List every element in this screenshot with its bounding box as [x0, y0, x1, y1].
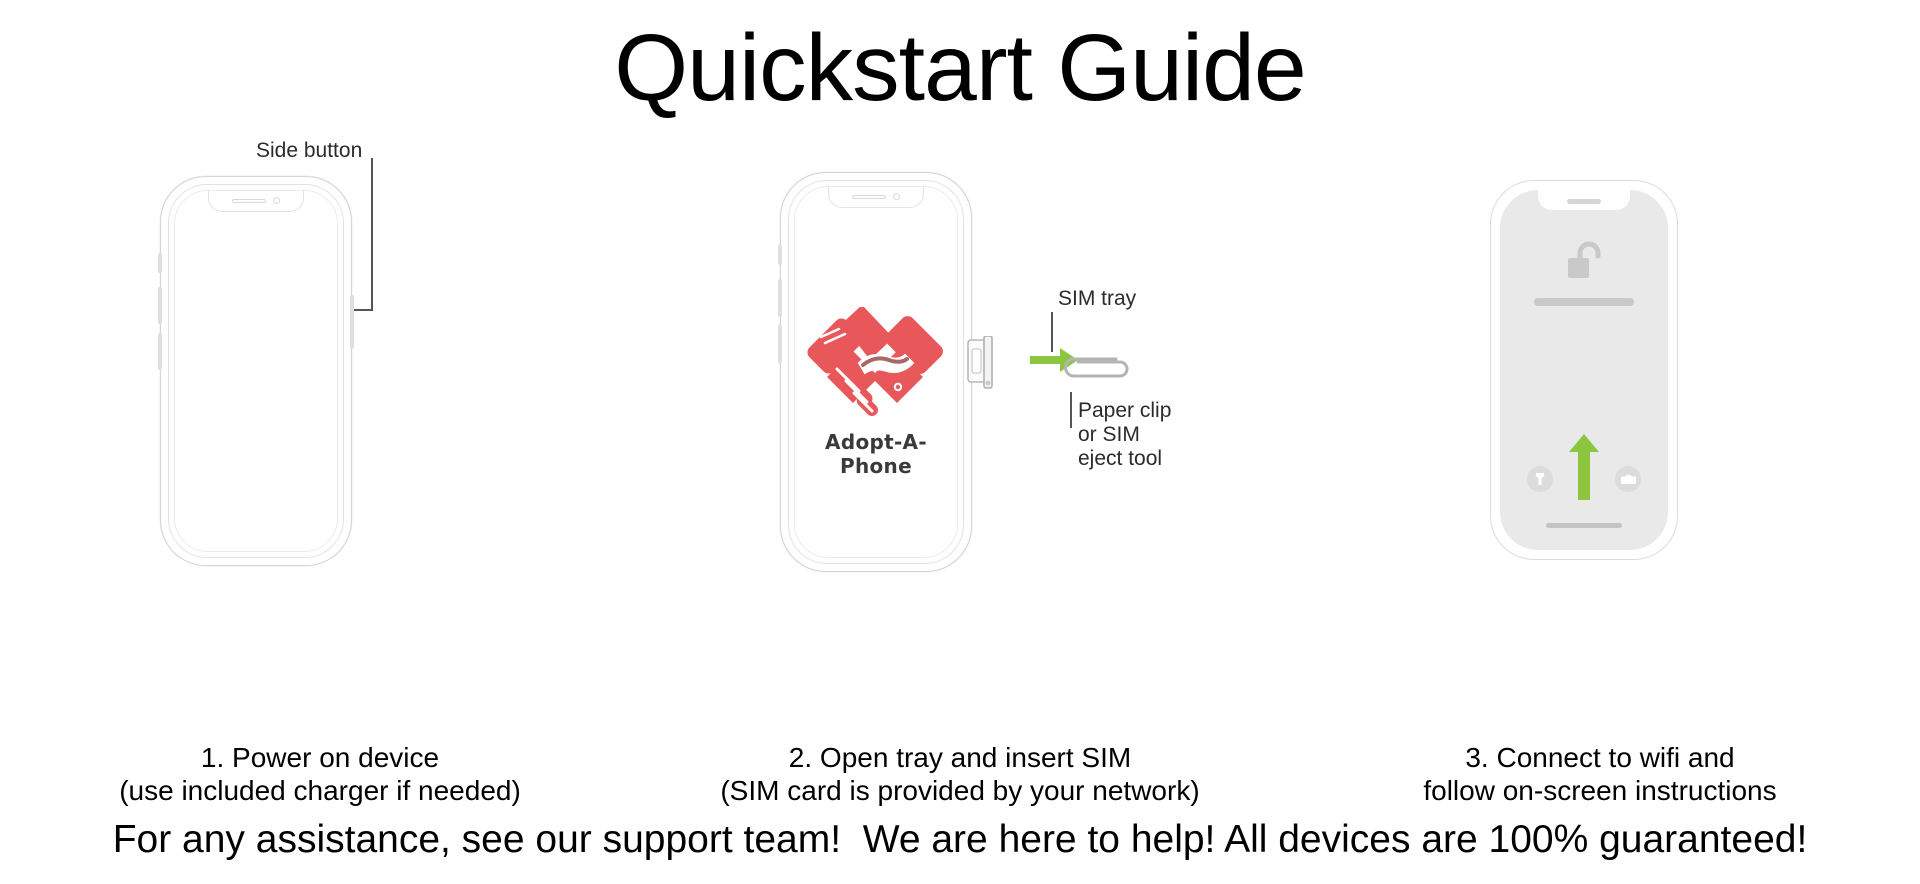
phone-device-3: [1490, 180, 1678, 560]
paperclip-callout-line-2: or SIM: [1078, 422, 1140, 448]
step-1-illustration: Side button: [0, 140, 640, 740]
sim-tray-leader: [1051, 312, 1053, 352]
brand-name-label: Adopt-A-Phone: [794, 430, 958, 478]
phone-3-notch: [1538, 190, 1630, 210]
phone-2-notch: [828, 186, 924, 208]
side-button-leader-horizontal: [352, 309, 373, 311]
volume-up-button[interactable]: [778, 279, 782, 317]
speaker-slot-icon: [232, 199, 266, 203]
side-button-leader-vertical: [371, 158, 373, 310]
volume-down-button[interactable]: [778, 325, 782, 363]
speaker-slot-icon: [852, 195, 886, 199]
phone-1-notch: [208, 190, 304, 212]
handshake-icon: [801, 307, 951, 419]
page-title: Quickstart Guide: [0, 14, 1920, 123]
phone-2-screen: Adopt-A-Phone: [794, 186, 958, 558]
step-3-illustration: [1280, 140, 1920, 740]
volume-down-button[interactable]: [158, 333, 162, 370]
silent-switch-button[interactable]: [158, 253, 162, 273]
phone-3-screen: [1500, 190, 1668, 550]
silent-switch-button[interactable]: [778, 245, 782, 265]
step-3-caption-line-1: 3. Connect to wifi and: [1280, 742, 1920, 775]
camera-icon[interactable]: [1615, 466, 1641, 492]
sim-tray-callout-label: SIM tray: [1058, 286, 1136, 312]
step-2-illustration: Adopt-A-Phone: [640, 140, 1280, 740]
paperclip-callout-line-1: Paper clip: [1078, 398, 1171, 424]
step-1-caption-line-1: 1. Power on device: [0, 742, 640, 775]
phone-device-1: [160, 176, 352, 566]
step-1-caption: 1. Power on device (use included charger…: [0, 742, 640, 808]
paperclip-eject-tool-icon: [1064, 356, 1132, 382]
flashlight-icon[interactable]: [1527, 466, 1553, 492]
speaker-slot-icon: [1567, 199, 1601, 204]
phone-1-screen: [174, 190, 338, 552]
brand-logo-block: Adopt-A-Phone: [794, 307, 958, 478]
power-side-button[interactable]: [350, 295, 354, 349]
phone-device-2: Adopt-A-Phone: [780, 172, 972, 572]
passcode-bar: [1534, 298, 1634, 306]
paperclip-callout-line-3: eject tool: [1078, 446, 1162, 472]
front-camera-icon: [273, 197, 280, 204]
paperclip-leader: [1070, 392, 1072, 428]
step-2-caption-line-1: 2. Open tray and insert SIM: [640, 742, 1280, 775]
home-indicator: [1546, 523, 1622, 528]
quickstart-guide-page: Quickstart Guide Side button: [0, 0, 1920, 884]
step-2-caption-line-2: (SIM card is provided by your network): [640, 775, 1280, 808]
volume-up-button[interactable]: [158, 287, 162, 324]
step-3-caption-line-2: follow on-screen instructions: [1280, 775, 1920, 808]
green-up-arrow-icon: [1568, 434, 1600, 502]
front-camera-icon: [893, 193, 900, 200]
step-1-caption-line-2: (use included charger if needed): [0, 775, 640, 808]
step-3-caption: 3. Connect to wifi and follow on-screen …: [1280, 742, 1920, 808]
unlock-padlock-icon: [1560, 236, 1608, 284]
side-button-callout-label: Side button: [256, 138, 362, 164]
step-2-caption: 2. Open tray and insert SIM (SIM card is…: [640, 742, 1280, 808]
sim-tray-icon[interactable]: [966, 336, 1026, 390]
steps-row: Side button: [0, 140, 1920, 740]
support-footer-text: For any assistance, see our support team…: [0, 818, 1920, 862]
